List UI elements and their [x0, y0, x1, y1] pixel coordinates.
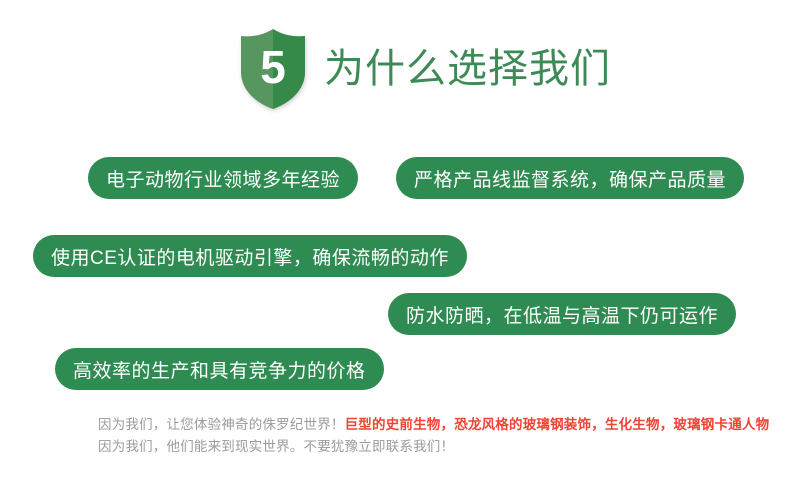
page-title: 为什么选择我们 — [324, 49, 611, 89]
feature-pill: 严格产品线监督系统，确保产品质量 — [396, 157, 744, 199]
footer-line-1-prefix: 因为我们，让您体验神奇的侏罗纪世界！ — [98, 417, 345, 432]
header-inner: 5 为什么选择我们 — [238, 28, 611, 110]
section-header: 5 为什么选择我们 — [0, 0, 800, 125]
shield-icon: 5 — [238, 28, 308, 110]
footer-text-block: 因为我们，让您体验神奇的侏罗纪世界！巨型的史前生物，恐龙风格的玻璃钢装饰，生化生… — [98, 414, 788, 458]
footer-line-1: 因为我们，让您体验神奇的侏罗纪世界！巨型的史前生物，恐龙风格的玻璃钢装饰，生化生… — [98, 414, 788, 436]
feature-pill: 电子动物行业领域多年经验 — [88, 157, 358, 199]
footer-line-2: 因为我们，他们能来到现实世界。不要犹豫立即联系我们！ — [98, 436, 788, 458]
feature-pill-list: 电子动物行业领域多年经验 严格产品线监督系统，确保产品质量 使用CE认证的电机驱… — [0, 125, 800, 400]
footer-line-1-highlight: 巨型的史前生物，恐龙风格的玻璃钢装饰，生化生物，玻璃钢卡通人物 — [345, 417, 770, 432]
feature-pill: 高效率的生产和具有竞争力的价格 — [55, 348, 384, 390]
feature-pill: 防水防晒，在低温与高温下仍可运作 — [388, 293, 736, 335]
badge-number: 5 — [238, 28, 308, 110]
feature-pill: 使用CE认证的电机驱动引擎，确保流畅的动作 — [33, 235, 467, 277]
